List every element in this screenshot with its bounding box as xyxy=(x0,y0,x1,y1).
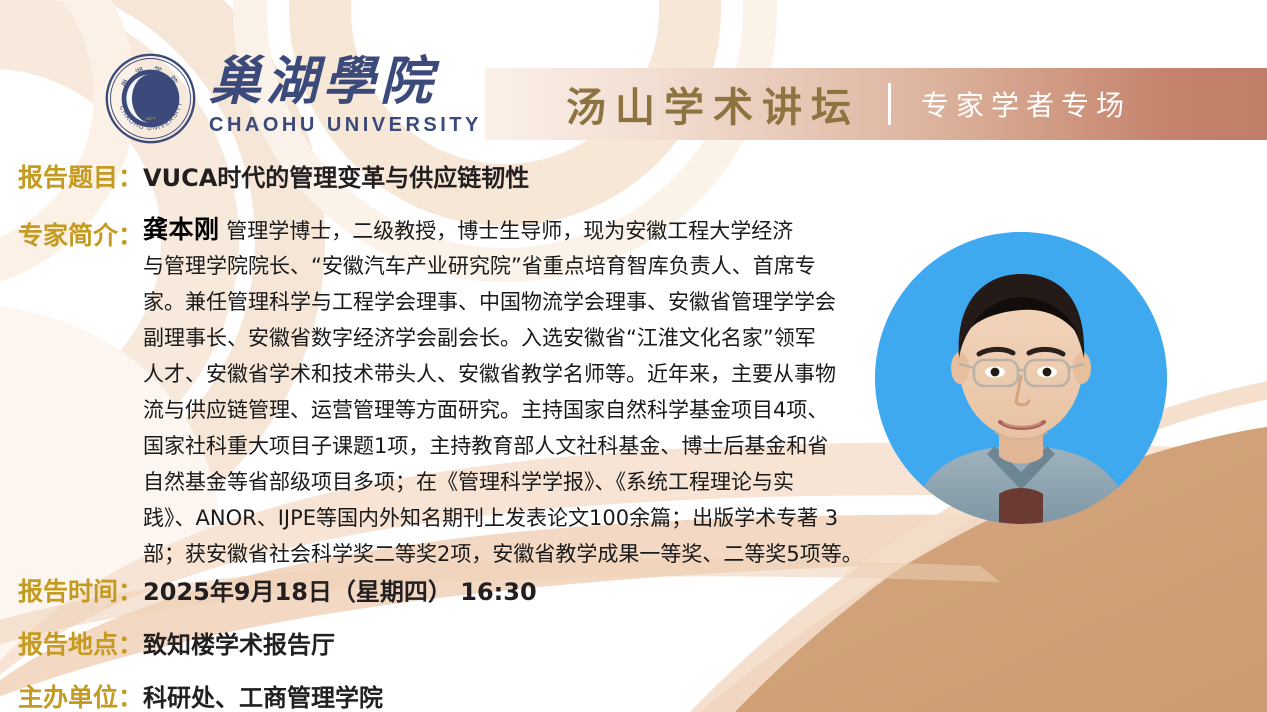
seal-year: 1977 xyxy=(145,116,156,121)
bio-line: 部；获安徽省社会科学奖二等奖2项，安徽省教学成果一等奖、二等奖5项等。 xyxy=(143,536,873,572)
university-name-block: 巢湖學院 CHAOHU UNIVERSITY xyxy=(209,52,482,137)
report-place-label: 报告地点： xyxy=(18,625,143,661)
report-time-label: 报告时间： xyxy=(18,572,143,608)
report-host-row: 主办单位： 科研处、工商管理学院 xyxy=(18,678,383,712)
bio-line: 国家社科重大项目子课题1项，主持教育部人文社科基金、博士后基金和省 xyxy=(143,428,873,464)
speaker-bio-body: 龚本刚 管理学博士，二级教授，博士生导师，现为安徽工程大学经济 与管理学院院长、… xyxy=(143,212,873,572)
report-place-value: 致知楼学术报告厅 xyxy=(143,625,335,660)
bio-line: 龚本刚 管理学博士，二级教授，博士生导师，现为安徽工程大学经济 xyxy=(143,212,873,248)
bio-line: 副理事长、安徽省数字经济学会副会长。入选安徽省“江淮文化名家”领军 xyxy=(143,320,873,356)
bio-line: 与管理学院院长、“安徽汽车产业研究院”省重点培育智库负责人、首席专 xyxy=(143,248,873,284)
poster-header: 1977 巢 湖 学 院 CHAOHU UNIVERSITY 巢湖學院 CHAO… xyxy=(0,0,1267,150)
speaker-bio-label: 专家简介： xyxy=(18,216,143,252)
report-time-row: 报告时间： 2025年9月18日（星期四） 16:30 xyxy=(18,572,537,608)
university-name-cn: 巢湖學院 xyxy=(209,56,482,108)
forum-subtitle: 专家学者专场 xyxy=(921,84,1131,124)
report-title-label: 报告题目： xyxy=(18,158,143,194)
university-logo-block: 1977 巢 湖 学 院 CHAOHU UNIVERSITY 巢湖學院 CHAO… xyxy=(104,52,482,145)
bio-line-text: 管理学博士，二级教授，博士生导师，现为安徽工程大学经济 xyxy=(226,219,793,243)
poster-root: 1977 巢 湖 学 院 CHAOHU UNIVERSITY 巢湖學院 CHAO… xyxy=(0,0,1267,712)
university-seal-icon: 1977 巢 湖 学 院 CHAOHU UNIVERSITY xyxy=(104,52,197,145)
speaker-portrait xyxy=(875,232,1167,524)
bio-line: 人才、安徽省学术和技术带头人、安徽省教学名师等。近年来，主要从事物 xyxy=(143,356,873,392)
speaker-bio-row: 专家简介： 龚本刚 管理学博士，二级教授，博士生导师，现为安徽工程大学经济 与管… xyxy=(18,212,878,572)
report-place-row: 报告地点： 致知楼学术报告厅 xyxy=(18,625,335,661)
speaker-portrait-image xyxy=(875,232,1167,524)
speaker-name: 龚本刚 xyxy=(143,215,220,244)
forum-banner: 汤山学术讲坛 专家学者专场 xyxy=(485,68,1267,140)
banner-divider xyxy=(888,83,891,125)
bio-line: 流与供应链管理、运营管理等方面研究。主持国家自然科学基金项目4项、 xyxy=(143,392,873,428)
university-name-en: CHAOHU UNIVERSITY xyxy=(209,114,482,137)
report-host-label: 主办单位： xyxy=(18,678,143,712)
report-title-value: VUCA时代的管理变革与供应链韧性 xyxy=(143,158,529,193)
report-time-value: 2025年9月18日（星期四） 16:30 xyxy=(143,572,537,607)
bio-line: 家。兼任管理科学与工程学会理事、中国物流学会理事、安徽省管理学学会 xyxy=(143,284,873,320)
bio-line: 自然基金等省部级项目多项；在《管理科学学报》、《系统工程理论与实 xyxy=(143,464,873,500)
report-host-value: 科研处、工商管理学院 xyxy=(143,678,383,712)
bio-line: 践》、ANOR、IJPE等国内外知名期刊上发表论文100余篇；出版学术专著 3 xyxy=(143,500,873,536)
report-title-row: 报告题目： VUCA时代的管理变革与供应链韧性 xyxy=(18,158,529,194)
forum-title: 汤山学术讲坛 xyxy=(566,75,860,133)
